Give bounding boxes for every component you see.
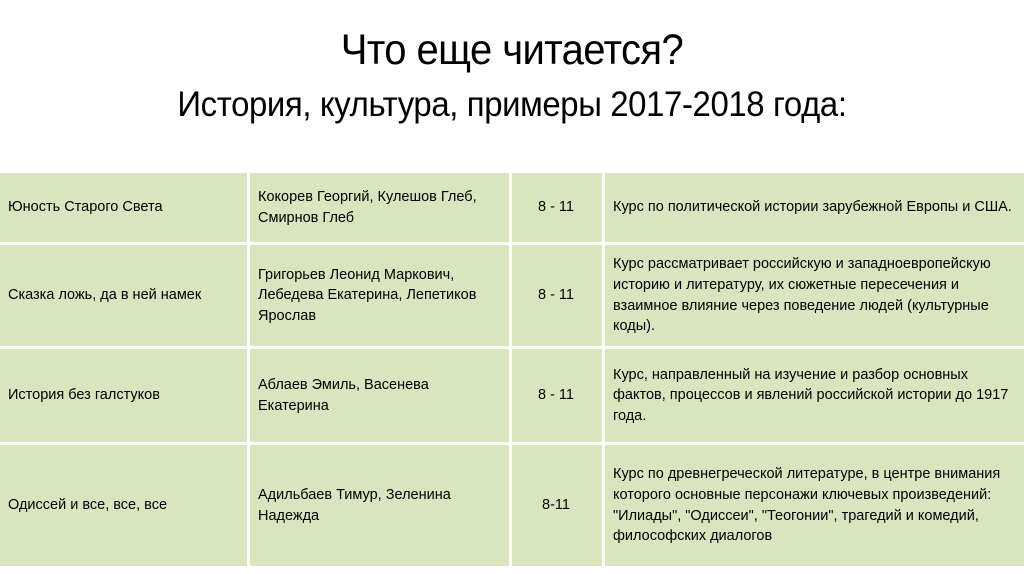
course-grades-cell: 8 - 11: [512, 173, 605, 245]
course-name-cell: Одиссей и все, все, все: [0, 445, 250, 566]
table-row: Юность Старого Света Кокорев Георгий, Ку…: [0, 173, 1024, 245]
course-authors-cell: Адильбаев Тимур, Зеленина Надежда: [250, 445, 512, 566]
courses-table-body: Юность Старого Света Кокорев Георгий, Ку…: [0, 173, 1024, 566]
course-authors-cell: Кокорев Георгий, Кулешов Глеб, Смирнов Г…: [250, 173, 512, 245]
course-grades-cell: 8 - 11: [512, 349, 605, 445]
table-row: История без галстуков Аблаев Эмиль, Васе…: [0, 349, 1024, 445]
course-description-cell: Курс рассматривает российскую и западное…: [605, 245, 1024, 349]
page-title: Что еще читается?: [36, 0, 988, 73]
course-authors-cell: Григорьев Леонид Маркович, Лебедева Екат…: [250, 245, 512, 349]
table-row: Сказка ложь, да в ней намек Григорьев Ле…: [0, 245, 1024, 349]
course-description-cell: Курс по политической истории зарубежной …: [605, 173, 1024, 245]
course-name-cell: Юность Старого Света: [0, 173, 250, 245]
slide-heading-block: Что еще читается? История, культура, при…: [0, 0, 1024, 124]
course-name-cell: Сказка ложь, да в ней намек: [0, 245, 250, 349]
course-grades-cell: 8 - 11: [512, 245, 605, 349]
presentation-slide: Что еще читается? История, культура, при…: [0, 0, 1024, 574]
course-description-cell: Курс по древнегреческой литературе, в це…: [605, 445, 1024, 566]
table-row: Одиссей и все, все, все Адильбаев Тимур,…: [0, 445, 1024, 566]
course-grades-cell: 8-11: [512, 445, 605, 566]
course-name-cell: История без галстуков: [0, 349, 250, 445]
course-authors-cell: Аблаев Эмиль, Васенева Екатерина: [250, 349, 512, 445]
courses-table: Юность Старого Света Кокорев Георгий, Ку…: [0, 173, 1024, 566]
page-subtitle: История, культура, примеры 2017-2018 год…: [31, 73, 994, 124]
course-description-cell: Курс, направленный на изучение и разбор …: [605, 349, 1024, 445]
